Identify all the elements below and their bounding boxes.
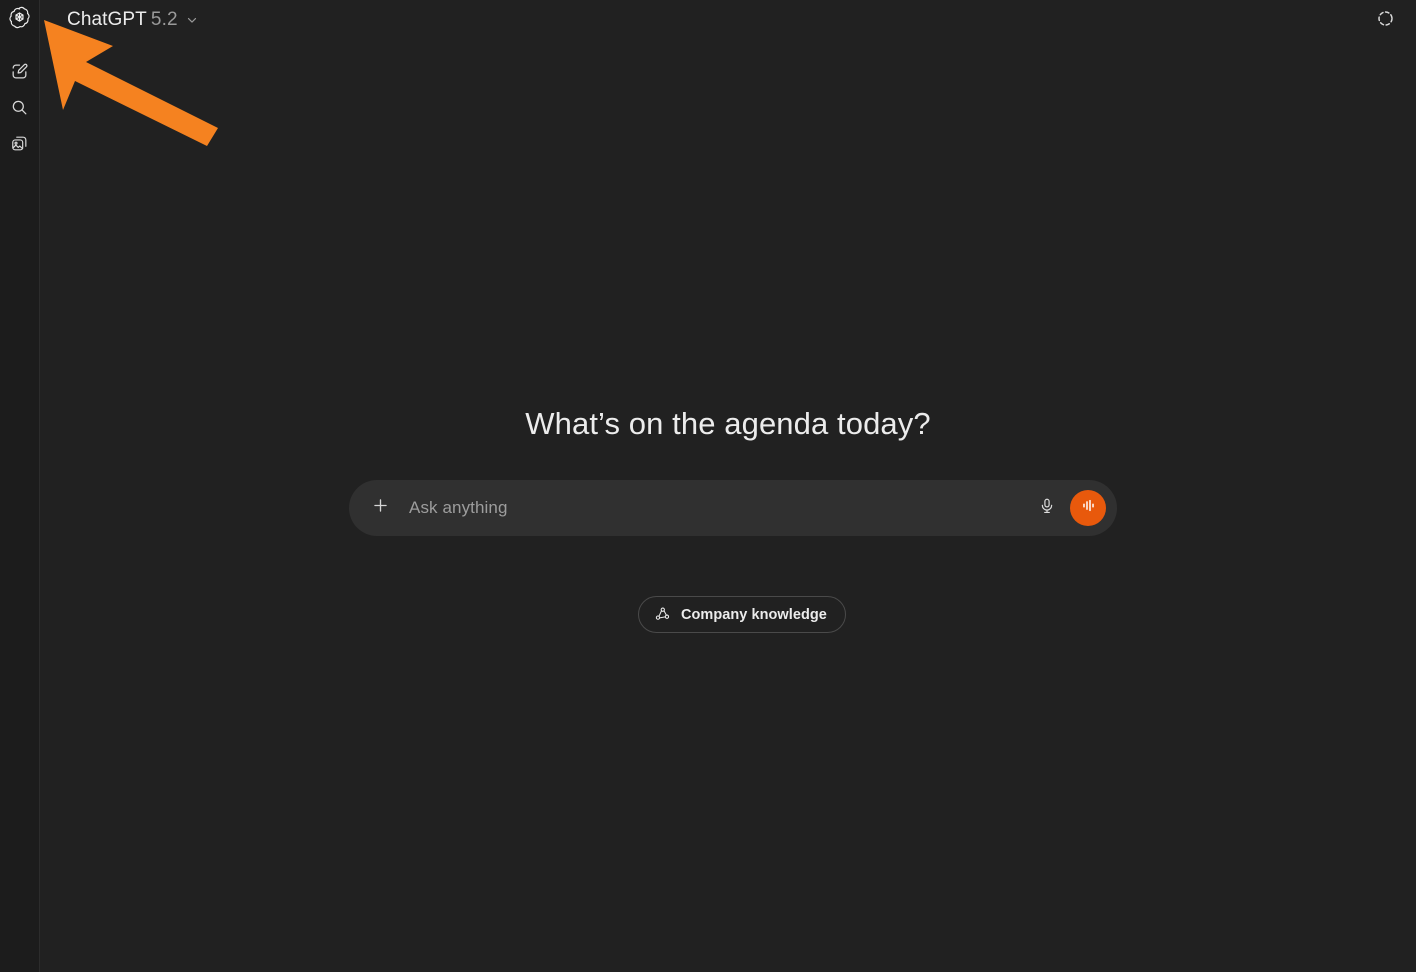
plus-icon	[371, 496, 390, 520]
page-title: What’s on the agenda today?	[40, 406, 1416, 442]
model-switcher-button[interactable]: ChatGPT 5.2	[63, 5, 207, 35]
ask-input[interactable]	[397, 498, 1030, 518]
company-knowledge-label: Company knowledge	[681, 607, 827, 623]
sidebar-item-library[interactable]	[0, 128, 40, 164]
sidebar-item-new-chat[interactable]	[0, 56, 40, 92]
model-name-label: ChatGPT	[67, 9, 147, 31]
temporary-chat-dashed-circle-icon	[1376, 9, 1395, 33]
top-header-bar: ChatGPT 5.2	[40, 0, 1416, 40]
voice-waveform-icon	[1079, 496, 1098, 520]
model-version-label: 5.2	[151, 9, 178, 31]
sidebar-item-search[interactable]	[0, 92, 40, 128]
composer-bar	[349, 480, 1117, 536]
microphone-icon	[1038, 497, 1056, 520]
dictate-button[interactable]	[1030, 491, 1064, 525]
sidebar-openai-logo-button[interactable]	[0, 0, 40, 40]
chevron-down-icon	[185, 13, 199, 27]
main-content-area: What’s on the agenda today?	[40, 40, 1416, 972]
compose-new-chat-icon	[10, 62, 29, 86]
voice-mode-button[interactable]	[1070, 490, 1106, 526]
company-knowledge-button[interactable]: Company knowledge	[638, 596, 846, 633]
chatgpt-window: ChatGPT 5.2 What’s on the agenda today?	[0, 0, 1416, 972]
openai-logo-icon	[8, 6, 31, 34]
add-attachment-button[interactable]	[363, 491, 397, 525]
knowledge-graph-nodes-icon	[654, 606, 671, 623]
sidebar	[0, 0, 40, 972]
library-images-icon	[10, 134, 29, 158]
temporary-chat-button[interactable]	[1372, 8, 1398, 34]
search-icon	[10, 98, 29, 122]
